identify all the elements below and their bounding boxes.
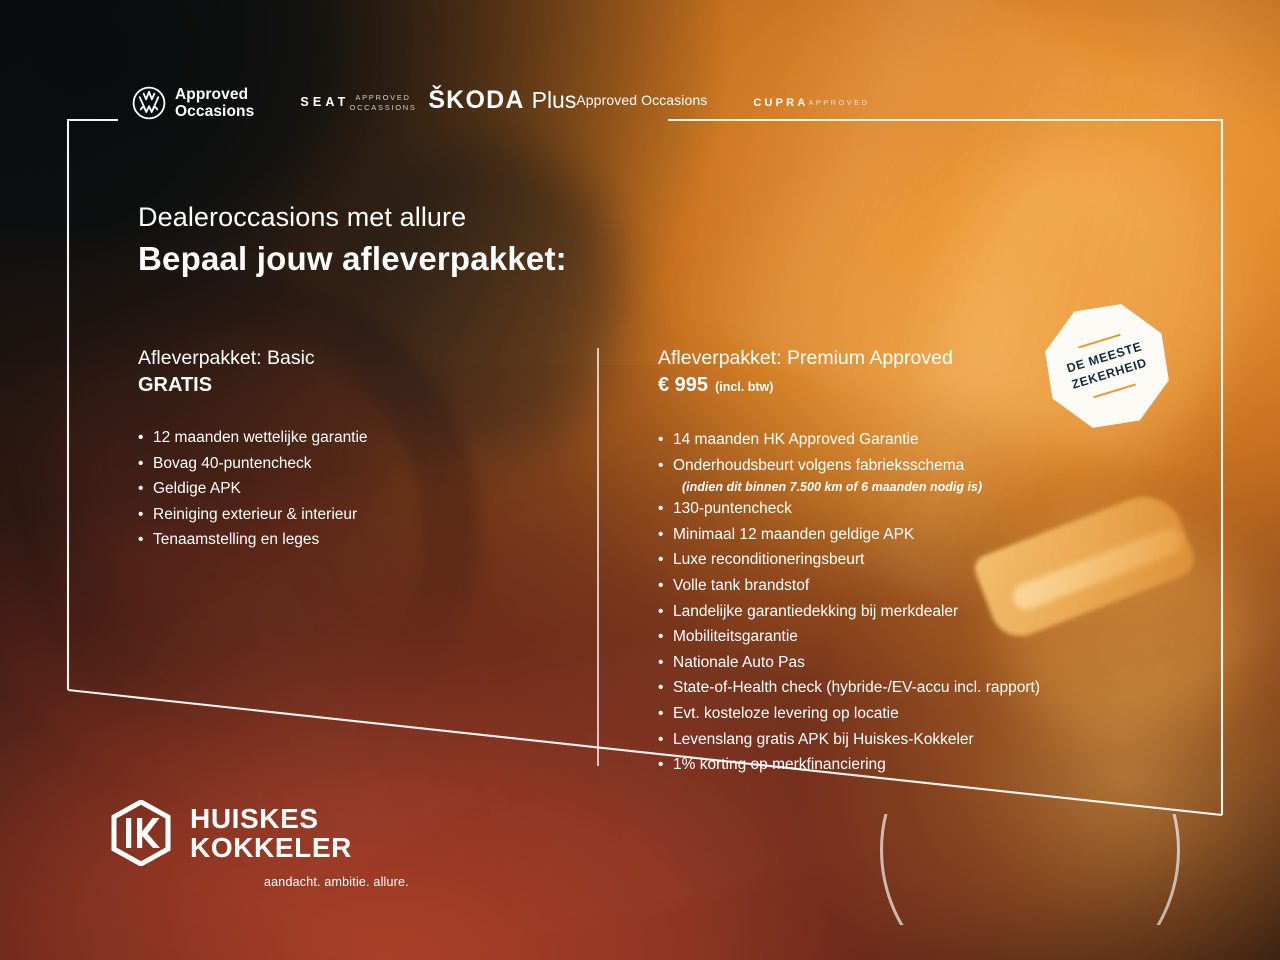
dealer-name-line2: KOKKELER (190, 833, 352, 862)
feature-text: Bovag 40-puntencheck (153, 455, 312, 472)
feature-text: Levenslang gratis APK bij Huiskes-Kokkel… (673, 731, 974, 748)
seat-sublabel-1: APPROVED (350, 93, 417, 103)
package-price-basic: GRATIS (138, 372, 568, 399)
list-item: Levenslang gratis APK bij Huiskes-Kokkel… (658, 727, 1128, 753)
feature-text: Geldige APK (153, 480, 241, 497)
poster-canvas: Approved Occasions SEAT APPROVED OCCASSI… (0, 0, 1280, 960)
skoda-wordmark: ŠKODA (428, 86, 524, 115)
list-item: 130-puntencheck (658, 496, 1128, 522)
list-item: State-of-Health check (hybride-/EV-accu … (658, 675, 1128, 701)
feature-text: 12 maanden wettelijke garantie (153, 429, 368, 446)
feature-text: Minimaal 12 maanden geldige APK (673, 526, 914, 543)
list-item: Volle tank brandstof (658, 573, 1128, 599)
feature-text: Nationale Auto Pas (673, 654, 805, 671)
page-title: Bepaal jouw afleverpakket: (138, 237, 567, 281)
list-item: Geldige APK (138, 476, 568, 502)
list-item: Nationale Auto Pas (658, 650, 1128, 676)
brand-logo-bar: Approved Occasions SEAT APPROVED OCCASSI… (132, 86, 823, 120)
logo-skoda: ŠKODA Plus Approved Occasions (428, 86, 707, 115)
list-item: 1% korting op merkfinanciering (658, 752, 1128, 778)
list-item: Luxe reconditioneringsbeurt (658, 547, 1128, 573)
list-item: Landelijke garantiedekking bij merkdeale… (658, 599, 1128, 625)
hk-monogram-icon (110, 800, 172, 866)
package-column-basic: Afleverpakket: Basic GRATIS 12 maanden w… (138, 345, 568, 553)
seat-sublabel: APPROVED OCCASSIONS (350, 93, 417, 113)
feature-text: Tenaamstelling en leges (153, 531, 319, 548)
dealer-name-block: HUISKES KOKKELER (190, 800, 352, 862)
feature-text: 130-puntencheck (673, 500, 792, 517)
feature-text: Landelijke garantiedekking bij merkdeale… (673, 603, 958, 620)
feature-text: Evt. kosteloze levering op locatie (673, 705, 899, 722)
logo-cupra: CUPRA APPROVED (753, 86, 823, 116)
list-item: Reiniging exterieur & interieur (138, 502, 568, 528)
feature-text: Mobiliteitsgarantie (673, 628, 798, 645)
vw-label: Approved Occasions (175, 86, 254, 120)
package-name-basic: Afleverpakket: Basic (138, 345, 568, 371)
package-vat-note: (incl. btw) (715, 380, 773, 394)
vw-label-line1: Approved (175, 86, 254, 103)
volkswagen-logo-icon (132, 86, 166, 120)
feature-text: Volle tank brandstof (673, 577, 809, 594)
cupra-sublabel: APPROVED (808, 98, 869, 107)
list-item: 12 maanden wettelijke garantie (138, 425, 568, 451)
seat-sublabel-2: OCCASSIONS (350, 103, 417, 113)
feature-list-basic: 12 maanden wettelijke garantie Bovag 40-… (138, 425, 568, 553)
list-item: Bovag 40-puntencheck (138, 451, 568, 477)
feature-text: 14 maanden HK Approved Garantie (673, 431, 919, 448)
feature-text: 1% korting op merkfinanciering (673, 756, 886, 773)
headline-block: Dealeroccasions met allure Bepaal jouw a… (138, 200, 567, 281)
skoda-wordmark-row: ŠKODA Plus (428, 86, 576, 115)
feature-text: State-of-Health check (hybride-/EV-accu … (673, 679, 1040, 696)
skoda-sublabel: Approved Occasions (576, 92, 707, 108)
list-item: Minimaal 12 maanden geldige APK (658, 522, 1128, 548)
feature-text: Onderhoudsbeurt volgens fabrieksschema (673, 457, 964, 474)
feature-text: Luxe reconditioneringsbeurt (673, 551, 864, 568)
feature-note: (indien dit binnen 7.500 km of 6 maanden… (673, 478, 1128, 496)
cupra-label: CUPRA (753, 97, 808, 109)
list-item: Evt. kosteloze levering op locatie (658, 701, 1128, 727)
logo-seat: SEAT APPROVED OCCASSIONS (300, 86, 386, 116)
package-price-value-premium: € 995 (658, 374, 708, 396)
list-item: Tenaamstelling en leges (138, 527, 568, 553)
feature-text: Reiniging exterieur & interieur (153, 506, 357, 523)
vw-label-line2: Occasions (175, 103, 254, 120)
dealer-tagline: aandacht. ambitie. allure. (264, 875, 409, 889)
dealer-logo: HUISKES KOKKELER (110, 800, 352, 866)
seat-label: SEAT (300, 95, 349, 109)
status-badge: DE MEESTE ZEKERHEID (1039, 298, 1174, 433)
dealer-name-line1: HUISKES (190, 804, 352, 833)
logo-volkswagen: Approved Occasions (132, 86, 254, 120)
badge-content: DE MEESTE ZEKERHEID (1033, 292, 1180, 439)
list-item: Onderhoudsbeurt volgens fabrieksschema (… (658, 453, 1128, 497)
package-price-value-basic: GRATIS (138, 374, 212, 396)
kicker-text: Dealeroccasions met allure (138, 200, 567, 234)
list-item: Mobiliteitsgarantie (658, 624, 1128, 650)
skoda-plus-label: Plus (532, 87, 577, 114)
feature-list-premium: 14 maanden HK Approved Garantie Onderhou… (658, 427, 1128, 778)
